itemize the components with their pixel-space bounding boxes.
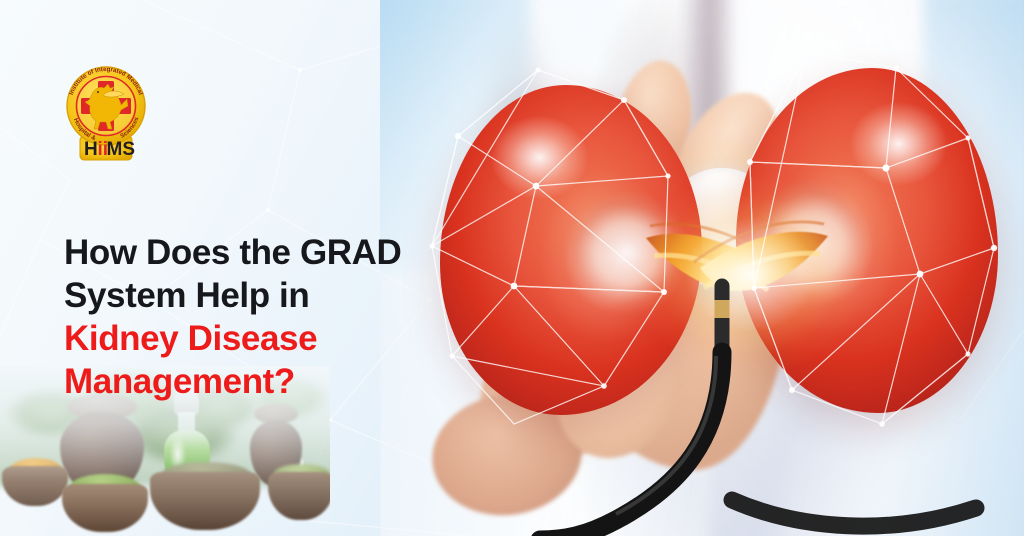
page-title: How Does the GRAD System Help in Kidney … bbox=[64, 231, 464, 403]
headline-line-2: System Help in bbox=[64, 274, 464, 317]
renal-vessel-right bbox=[680, 210, 830, 310]
hiims-logo[interactable]: Institute of Integrated Medical Hospital… bbox=[58, 50, 154, 170]
hero-photo bbox=[380, 0, 1024, 536]
kidney-disease-banner: Institute of Integrated Medical Hospital… bbox=[0, 0, 1024, 536]
headline-line-3: Kidney Disease bbox=[64, 317, 464, 360]
svg-text:MS: MS bbox=[107, 139, 136, 160]
headline-line-1: How Does the GRAD bbox=[64, 231, 464, 274]
svg-text:H: H bbox=[84, 139, 98, 160]
headline-line-4: Management? bbox=[64, 360, 464, 403]
logo-wordmark: H ii MS bbox=[84, 139, 135, 160]
